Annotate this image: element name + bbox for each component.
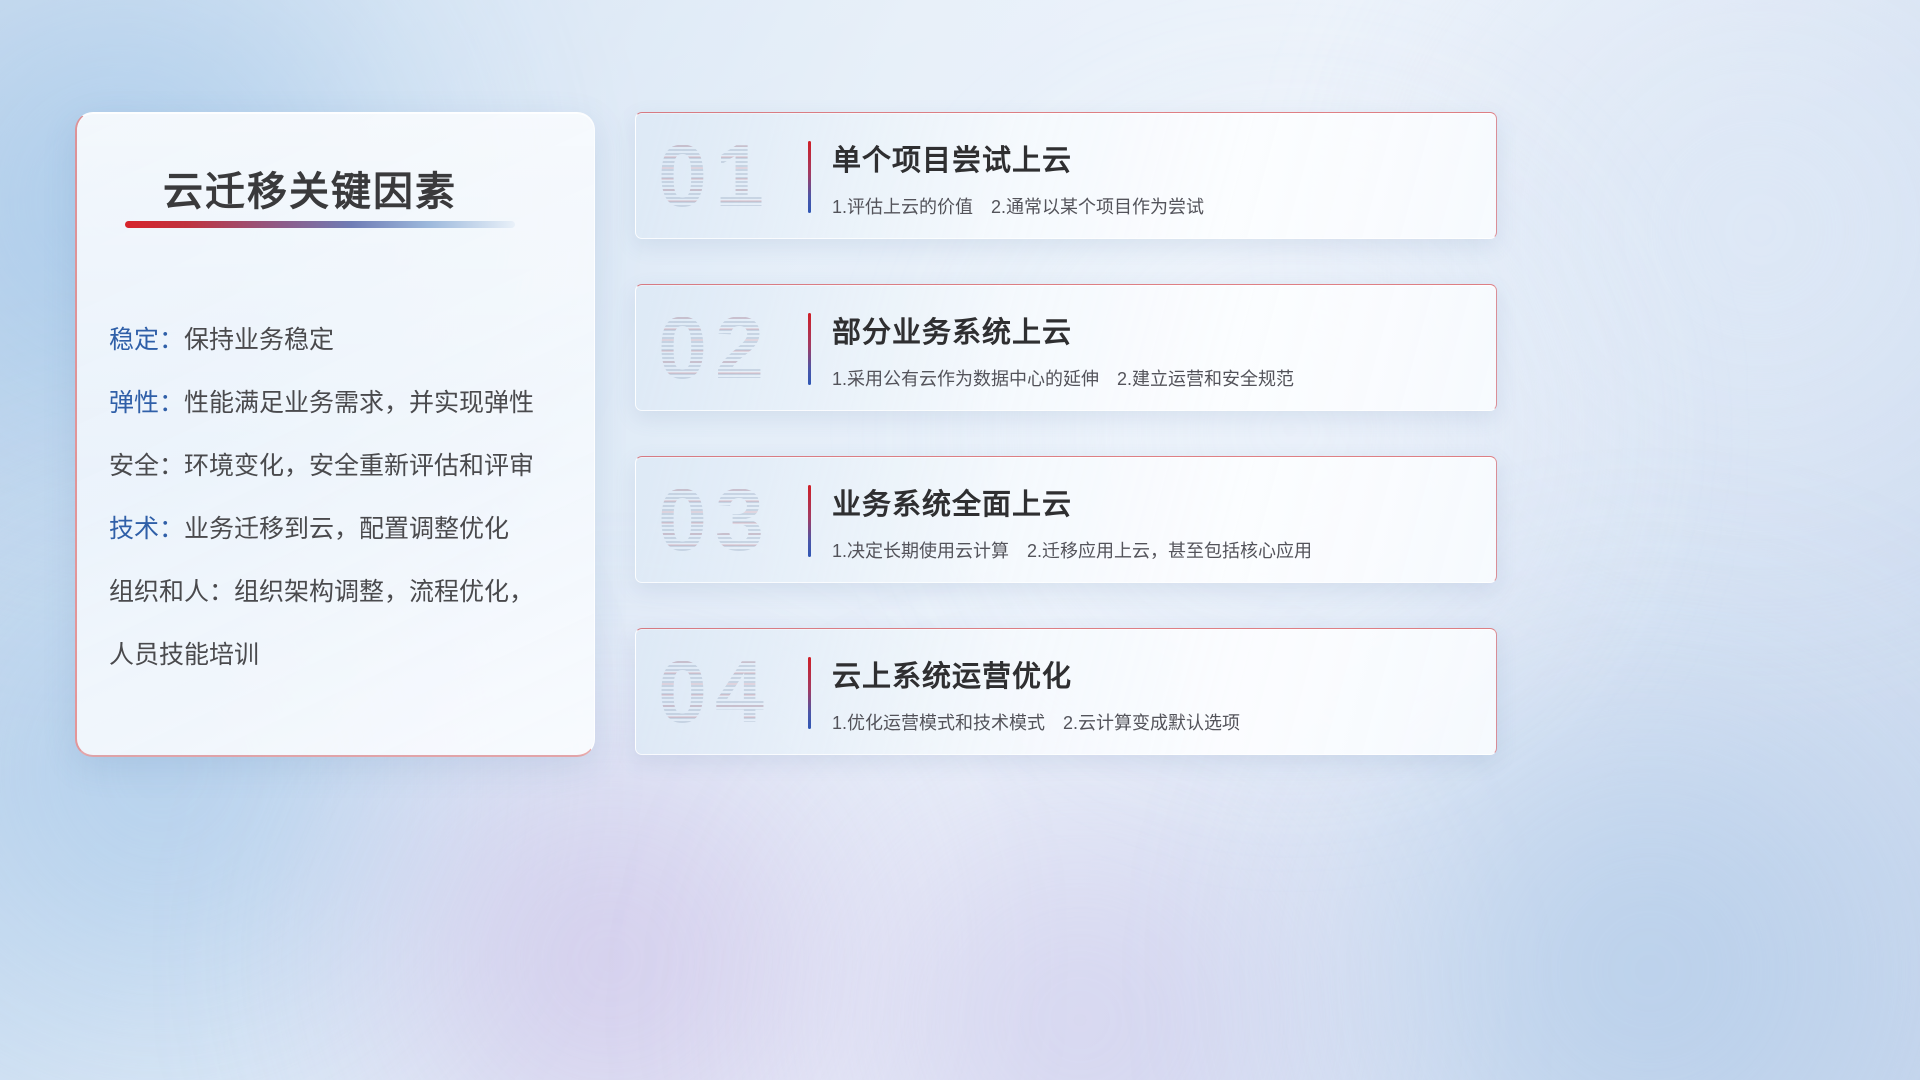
- factor-text: 保持业务稳定: [184, 326, 334, 354]
- title-underline-rule: [125, 221, 515, 228]
- stage-number-watermark-tint: 04: [658, 641, 772, 743]
- stage-number-watermark-tint: 01: [658, 125, 772, 227]
- stage-subtitle: 1.采用公有云作为数据中心的延伸 2.建立运营和安全规范: [832, 365, 1474, 391]
- stage-subtitle: 1.评估上云的价值 2.通常以某个项目作为尝试: [832, 193, 1474, 219]
- stage-accent-bar: [808, 485, 811, 557]
- factor-label: 弹性：: [109, 389, 184, 417]
- stage-title: 单个项目尝试上云: [832, 137, 1474, 179]
- stage-accent-bar: [808, 313, 811, 385]
- stage-title: 业务系统全面上云: [832, 481, 1474, 523]
- factor-text: 环境变化，安全重新评估和评审: [184, 452, 534, 480]
- stage-number-watermark-tint: 02: [658, 297, 772, 399]
- factor-label: 技术：: [109, 515, 184, 543]
- factor-list: 稳定：保持业务稳定 弹性：性能满足业务需求，并实现弹性 安全：环境变化，安全重新…: [109, 309, 576, 687]
- key-factors-panel: 云迁移关键因素 稳定：保持业务稳定 弹性：性能满足业务需求，并实现弹性 安全：环…: [75, 112, 595, 757]
- stage-card[interactable]: 03 03 业务系统全面上云 1.决定长期使用云计算 2.迁移应用上云，甚至包括…: [635, 456, 1497, 583]
- stage-text-block: 云上系统运营优化 1.优化运营模式和技术模式 2.云计算变成默认选项: [832, 653, 1474, 735]
- stage-text-block: 业务系统全面上云 1.决定长期使用云计算 2.迁移应用上云，甚至包括核心应用: [832, 481, 1474, 563]
- stage-accent-bar: [808, 657, 811, 729]
- factor-text: 业务迁移到云，配置调整优化: [184, 515, 509, 543]
- stage-card[interactable]: 01 01 单个项目尝试上云 1.评估上云的价值 2.通常以某个项目作为尝试: [635, 112, 1497, 239]
- factor-label: 组织和人：: [109, 578, 234, 606]
- factor-item: 人员技能培训: [109, 624, 576, 687]
- panel-title: 云迁移关键因素: [163, 159, 457, 217]
- stage-card[interactable]: 02 02 部分业务系统上云 1.采用公有云作为数据中心的延伸 2.建立运营和安…: [635, 284, 1497, 411]
- stage-card[interactable]: 04 04 云上系统运营优化 1.优化运营模式和技术模式 2.云计算变成默认选项: [635, 628, 1497, 755]
- factor-item: 安全：环境变化，安全重新评估和评审: [109, 435, 576, 498]
- factor-text: 人员技能培训: [109, 641, 259, 669]
- factor-item: 弹性：性能满足业务需求，并实现弹性: [109, 372, 576, 435]
- factor-item: 组织和人：组织架构调整，流程优化，: [109, 561, 576, 624]
- stage-number-watermark-tint: 03: [658, 469, 772, 571]
- stage-card-list: 01 01 单个项目尝试上云 1.评估上云的价值 2.通常以某个项目作为尝试 0…: [635, 112, 1497, 755]
- stage-subtitle: 1.优化运营模式和技术模式 2.云计算变成默认选项: [832, 709, 1474, 735]
- stage-title: 部分业务系统上云: [832, 309, 1474, 351]
- stage-accent-bar: [808, 141, 811, 213]
- stage-title: 云上系统运营优化: [832, 653, 1474, 695]
- factor-label: 稳定：: [109, 326, 184, 354]
- factor-text: 性能满足业务需求，并实现弹性: [184, 389, 534, 417]
- factor-item: 稳定：保持业务稳定: [109, 309, 576, 372]
- stage-text-block: 部分业务系统上云 1.采用公有云作为数据中心的延伸 2.建立运营和安全规范: [832, 309, 1474, 391]
- stage-subtitle: 1.决定长期使用云计算 2.迁移应用上云，甚至包括核心应用: [832, 537, 1474, 563]
- factor-label: 安全：: [109, 452, 184, 480]
- factor-item: 技术：业务迁移到云，配置调整优化: [109, 498, 576, 561]
- factor-text: 组织架构调整，流程优化，: [234, 578, 534, 606]
- stage-text-block: 单个项目尝试上云 1.评估上云的价值 2.通常以某个项目作为尝试: [832, 137, 1474, 219]
